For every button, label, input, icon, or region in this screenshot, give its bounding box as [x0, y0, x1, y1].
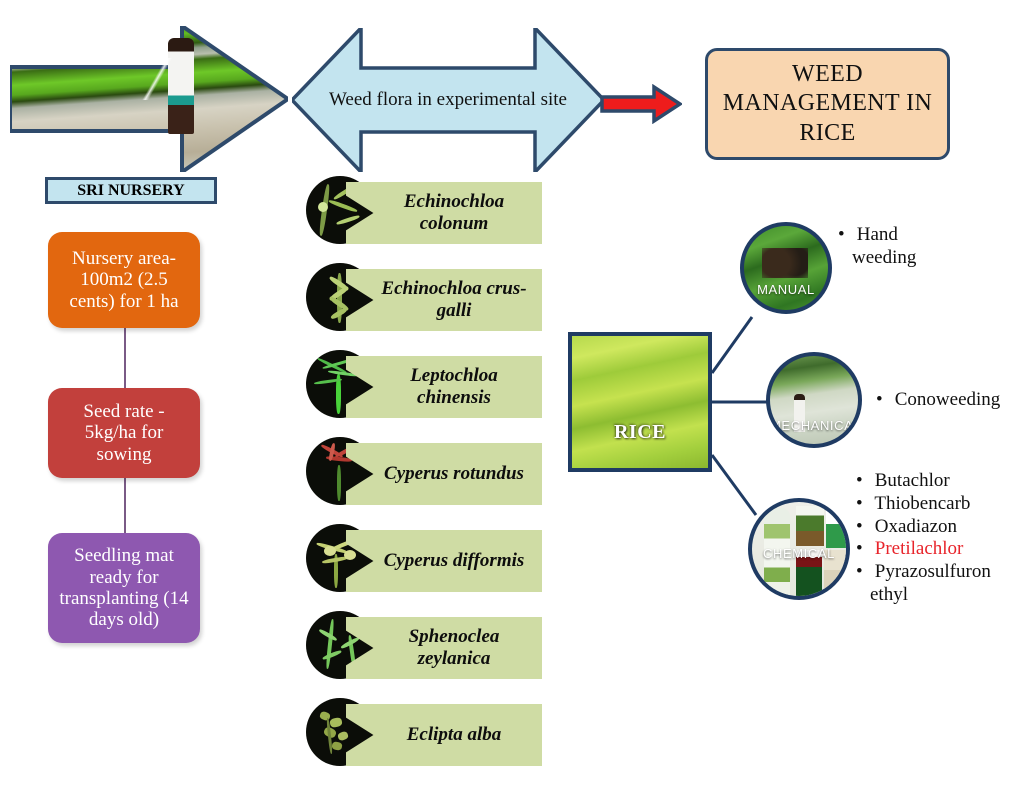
weed-name-banner: Cyperus difformis [346, 530, 542, 592]
weed-name-text: Cyperus rotundus [384, 463, 524, 485]
connector-nursery-to-seedrate [124, 328, 126, 388]
mechanical-item-0: Conoweeding [895, 389, 1001, 410]
rice-label: RICE [568, 332, 712, 472]
chemical-item-3-highlighted: Pretilachlor [875, 538, 964, 559]
step-seed-rate-text: Seed rate - 5kg/ha for sowing [56, 401, 192, 465]
step-box-nursery-area[interactable]: Nursery area- 100m2 (2.5 cents) for 1 ha [48, 232, 200, 328]
list-item[interactable]: Echinochloa colonum [300, 176, 550, 250]
step-box-seedling-mat[interactable]: Seedling mat ready for transplanting (14… [48, 533, 200, 643]
method-circle-chemical[interactable]: CHEMICAL [748, 498, 850, 600]
weed-name-banner: Sphenoclea zeylanica [346, 617, 542, 679]
manual-workers-figure [762, 248, 808, 278]
chemical-item-0: Butachlor [875, 470, 950, 491]
weed-management-title-text: WEED MANAGEMENT IN RICE [708, 60, 947, 148]
weed-name-banner: Echinochloa colonum [346, 182, 542, 244]
weed-name-text: Leptochloa chinensis [372, 365, 536, 409]
connector-seedrate-to-mat [124, 478, 126, 533]
method-caption-mechanical: MECHANICAL [770, 418, 858, 433]
list-item[interactable]: Eclipta alba [300, 698, 550, 772]
diagram-canvas: SRI NURSERY Nursery area- 100m2 (2.5 cen… [0, 0, 1009, 768]
step-nursery-area-text: Nursery area- 100m2 (2.5 cents) for 1 ha [56, 248, 192, 312]
weed-name-banner: Echinochloa crus-galli [346, 269, 542, 331]
connector-rice-chemical [712, 455, 756, 515]
step-box-seed-rate[interactable]: Seed rate - 5kg/ha for sowing [48, 388, 200, 478]
weed-name-banner: Eclipta alba [346, 704, 542, 766]
weed-name-text: Echinochloa crus-galli [372, 278, 536, 322]
chemical-item-1: Thiobencarb [874, 493, 970, 514]
method-circle-manual[interactable]: MANUAL [740, 222, 832, 314]
rice-label-text: RICE [614, 421, 666, 444]
weed-name-text: Echinochloa colonum [372, 191, 536, 235]
method-caption-chemical: CHEMICAL [752, 546, 846, 561]
list-item[interactable]: Echinochloa crus-galli [300, 263, 550, 337]
herbicide-pack-1 [796, 506, 824, 546]
list-item[interactable]: Leptochloa chinensis [300, 350, 550, 424]
weed-name-banner: Leptochloa chinensis [346, 356, 542, 418]
weed-name-text: Eclipta alba [407, 724, 501, 746]
weed-name-text: Sphenoclea zeylanica [372, 626, 536, 670]
method-caption-manual: MANUAL [744, 282, 828, 297]
weed-flora-label-text: Weed flora in experimental site [329, 88, 567, 112]
water-spray [140, 58, 174, 100]
step-seedling-mat-text: Seedling mat ready for transplanting (14… [56, 545, 192, 630]
weed-flora-label: Weed flora in experimental site [292, 28, 604, 172]
method-circle-mechanical[interactable]: MECHANICAL [766, 352, 862, 448]
weed-species-list: Echinochloa colonum Echinochloa crus-gal… [300, 176, 550, 785]
weed-management-title-box[interactable]: WEED MANAGEMENT IN RICE [705, 48, 950, 160]
sri-nursery-label: SRI NURSERY [45, 177, 217, 204]
list-item: • Conoweeding [876, 389, 1000, 412]
mechanical-methods-list: • Conoweeding [876, 389, 1000, 412]
chemical-item-4: Pyrazosulfuron [875, 561, 991, 582]
weed-name-text: Cyperus difformis [384, 550, 525, 572]
sri-nursery-label-text: SRI NURSERY [77, 182, 184, 200]
chemical-item-2: Oxadiazon [875, 516, 957, 537]
list-item[interactable]: Cyperus rotundus [300, 437, 550, 511]
connector-rice-manual [712, 317, 752, 373]
weed-name-banner: Cyperus rotundus [346, 443, 542, 505]
list-item[interactable]: Cyperus difformis [300, 524, 550, 598]
list-item[interactable]: Sphenoclea zeylanica [300, 611, 550, 685]
red-right-arrow-icon [600, 84, 682, 124]
